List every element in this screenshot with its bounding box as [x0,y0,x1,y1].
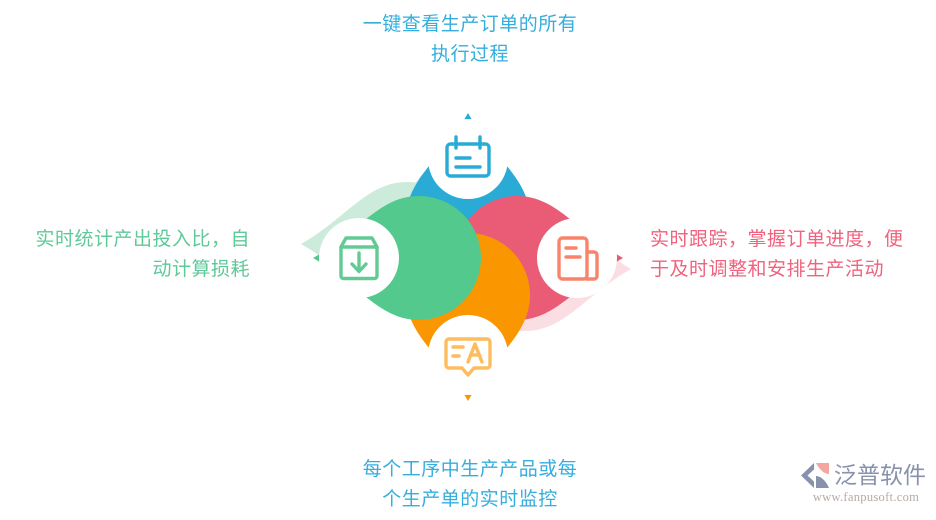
caption-top: 一键查看生产订单的所有 执行过程 [268,10,672,70]
infographic-canvas: 一键查看生产订单的所有 执行过程 实时跟踪，掌握订单进度，便 于及时调整和安排生… [0,0,936,520]
pinwheel-graphic [253,62,683,458]
watermark-brand: 泛普软件 [834,463,926,489]
pin-left[interactable] [313,196,481,320]
watermark-url: www.fanpusoft.com [800,490,932,505]
caption-left: 实时统计产出投入比，自 动计算损耗 [2,225,250,285]
watermark: 泛普软件 www.fanpusoft.com [800,462,932,512]
caption-right: 实时跟踪，掌握订单进度，便 于及时调整和安排生产活动 [650,225,936,285]
fanpu-logo-icon [800,462,830,489]
caption-bottom: 每个工序中生产产品或每 个生产单的实时监控 [268,455,672,515]
